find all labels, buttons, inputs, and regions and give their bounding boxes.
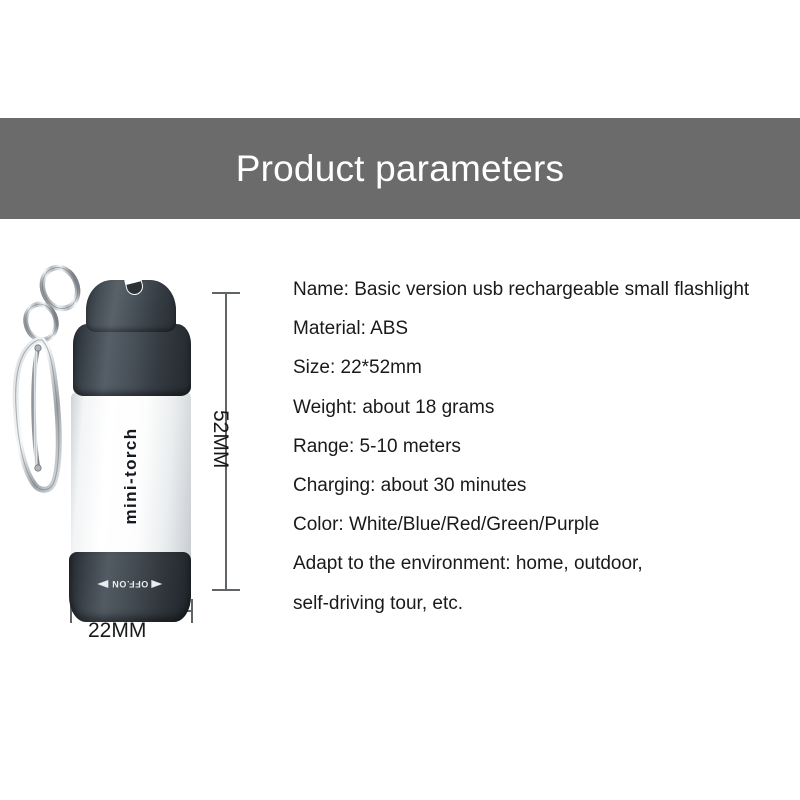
flashlight-base-switch: OFF.ON <box>69 552 191 622</box>
arrow-left-icon <box>151 580 162 588</box>
spec-line-environment: Adapt to the environment: home, outdoor, <box>293 544 783 583</box>
arrow-right-icon <box>98 580 109 588</box>
page-title: Product parameters <box>236 148 565 190</box>
spec-line-color: Color: White/Blue/Red/Green/Purple <box>293 505 783 544</box>
height-dimension-label: 52MM <box>208 410 232 468</box>
spec-line-range: Range: 5-10 meters <box>293 427 783 466</box>
spec-line-material: Material: ABS <box>293 309 783 348</box>
width-dimension-label: 22MM <box>88 619 146 643</box>
product-image-area: mini-torch OFF.ON <box>0 240 290 660</box>
carabiner-keyring-icon <box>8 262 86 522</box>
off-on-marking: OFF.ON <box>98 579 163 589</box>
specifications-list: Name: Basic version usb rechargeable sma… <box>293 270 783 623</box>
spec-line-size: Size: 22*52mm <box>293 348 783 387</box>
spec-line-weight: Weight: about 18 grams <box>293 388 783 427</box>
flashlight-product: mini-torch OFF.ON <box>68 280 192 620</box>
off-on-label: OFF.ON <box>112 579 149 589</box>
header-band: Product parameters <box>0 118 800 219</box>
spec-line-environment-cont: self-driving tour, etc. <box>293 584 783 623</box>
brand-label: mini-torch <box>121 427 141 524</box>
spec-line-name: Name: Basic version usb rechargeable sma… <box>293 270 783 309</box>
spec-line-charging: Charging: about 30 minutes <box>293 466 783 505</box>
flashlight-cap-collar <box>73 324 191 396</box>
flashlight-body: mini-torch <box>71 392 191 560</box>
